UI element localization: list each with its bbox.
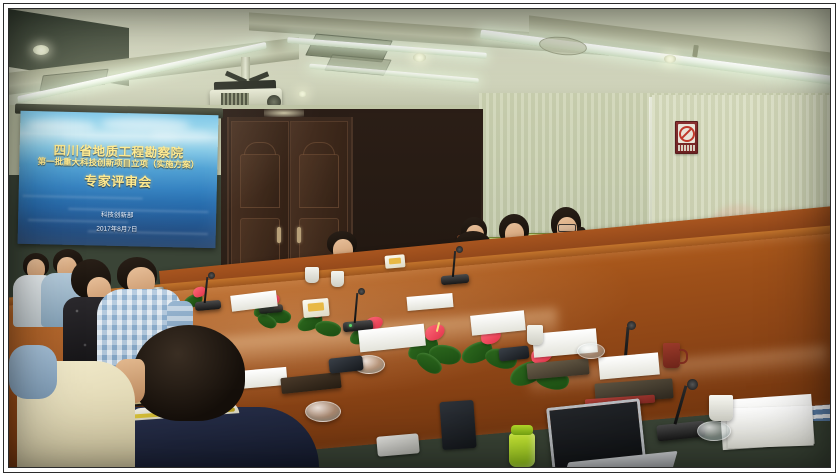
no-smoking-icon xyxy=(678,124,695,143)
paper-cup[interactable] xyxy=(305,267,319,283)
paper-cup[interactable] xyxy=(527,325,543,345)
head-back-hair xyxy=(133,325,245,421)
microphone-head xyxy=(456,246,463,253)
microphone-head xyxy=(358,288,365,295)
ceiling-downlight xyxy=(413,53,426,62)
microphone-head xyxy=(208,272,215,279)
slide-text-block: 四川省地质工程勘察院 第一批重大科技创新项目立项（实施方案） 专家评审会 科技创… xyxy=(18,111,219,248)
white-cup[interactable] xyxy=(709,395,733,421)
red-ceramic-mug[interactable] xyxy=(663,343,680,368)
glass-ashtray[interactable] xyxy=(305,401,341,422)
projection-screen: 四川省地质工程勘察院 第一批重大科技创新项目立项（实施方案） 专家评审会 科技创… xyxy=(18,111,219,248)
tissue-box[interactable] xyxy=(384,254,405,269)
paper-cup[interactable] xyxy=(331,271,344,287)
door-handle[interactable] xyxy=(297,227,301,243)
no-smoking-sign-text xyxy=(678,145,695,151)
door-panel xyxy=(240,154,280,208)
tablet[interactable] xyxy=(439,400,476,450)
slide-meeting-name: 专家评审会 xyxy=(19,169,217,192)
water-bottle-cap[interactable] xyxy=(511,425,533,435)
mobile-phone-white[interactable] xyxy=(376,433,420,457)
door-handle[interactable] xyxy=(277,227,281,243)
microphone-led xyxy=(349,324,352,327)
tissue-box[interactable] xyxy=(302,298,329,318)
document-stack[interactable] xyxy=(726,406,813,449)
conference-room-photograph: 四川省地质工程勘察院 第一批重大科技创新项目立项（实施方案） 专家评审会 科技创… xyxy=(9,9,830,467)
microphone-head xyxy=(627,321,636,330)
tissue-box-label xyxy=(389,257,401,264)
ceiling-downlight xyxy=(33,45,49,55)
slide-department: 科技创新部 xyxy=(18,207,216,221)
door-light-reflection xyxy=(264,109,304,117)
prohibition-circle-icon xyxy=(679,126,695,142)
tissue-box-label xyxy=(308,302,325,311)
photo-frame: 四川省地质工程勘察院 第一批重大科技创新项目立项（实施方案） 专家评审会 科技创… xyxy=(0,0,839,476)
prohibition-slash-icon xyxy=(681,127,692,138)
door-panel xyxy=(299,154,339,208)
microphone-head xyxy=(687,379,698,390)
slide-date: 2017年8月7日 xyxy=(18,221,216,235)
ceiling-downlight xyxy=(664,55,676,63)
no-smoking-sign xyxy=(675,121,698,154)
glass-ashtray[interactable] xyxy=(697,421,731,441)
ceiling-downlight xyxy=(298,91,307,97)
mug-handle xyxy=(679,349,688,364)
shoulder-blue xyxy=(9,345,57,399)
glass-ashtray[interactable] xyxy=(577,343,605,359)
water-bottle[interactable] xyxy=(509,433,535,467)
